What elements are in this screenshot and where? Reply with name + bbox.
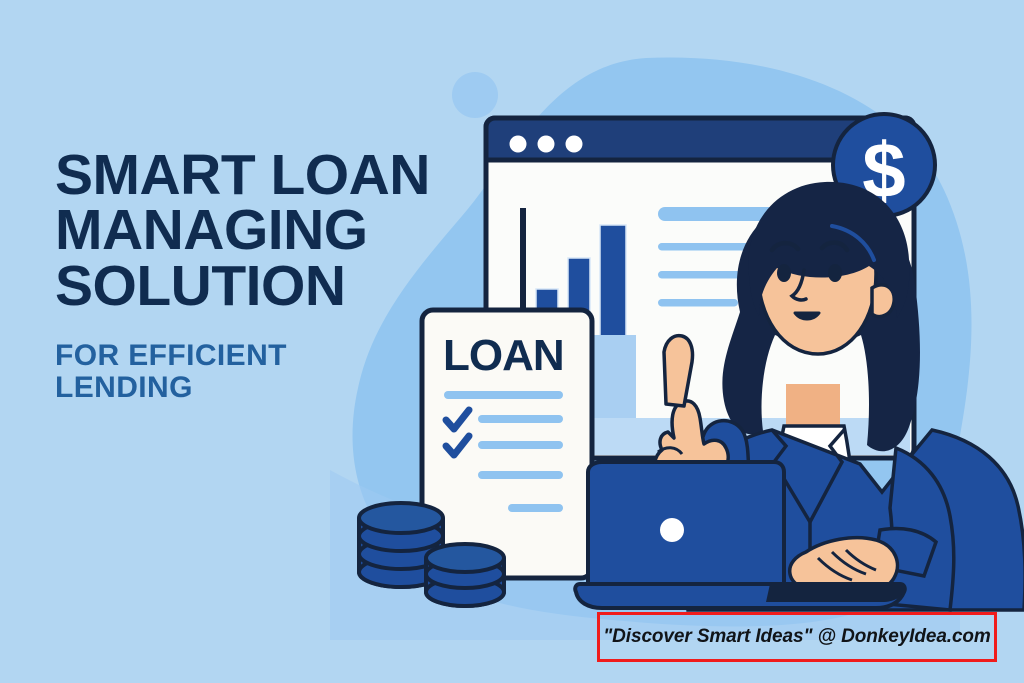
eye-left <box>777 264 791 282</box>
browser-line-body-2 <box>658 271 744 279</box>
headline-block: SMART LOAN MANAGING SOLUTION FOR EFFICIE… <box>55 148 455 405</box>
loan-doc-line-5 <box>508 504 563 512</box>
subhead-line-2: LENDING <box>55 372 455 404</box>
desk-shadow <box>766 584 904 602</box>
eye-right <box>828 264 842 282</box>
footer-banner-text: "Discover Smart Ideas" @ DonkeyIdea.com <box>603 626 990 648</box>
loan-document-title: LOAN <box>443 331 564 380</box>
page-title: SMART LOAN MANAGING SOLUTION <box>55 148 455 314</box>
page-subtitle: FOR EFFICIENT LENDING <box>55 340 455 405</box>
browser-dot-1-icon <box>510 136 527 153</box>
loan-doc-line-1 <box>444 391 563 399</box>
poster-canvas: SMART LOAN MANAGING SOLUTION FOR EFFICIE… <box>0 0 1024 683</box>
browser-line-body-1 <box>658 243 758 251</box>
headline-line-3: SOLUTION <box>55 259 455 314</box>
headline-line-2: MANAGING <box>55 203 455 258</box>
subhead-line-1: FOR EFFICIENT <box>55 340 455 372</box>
headline-line-1: SMART LOAN <box>55 148 455 203</box>
browser-inner-block-1 <box>588 335 636 430</box>
loan-doc-line-4 <box>478 471 563 479</box>
coin-top <box>426 544 504 572</box>
loan-doc-line-2 <box>478 415 563 423</box>
laptop-lid <box>588 462 784 584</box>
mouth <box>795 313 819 319</box>
browser-dot-3-icon <box>566 136 583 153</box>
coin-stack-short <box>426 544 504 606</box>
laptop-logo-icon <box>660 518 684 542</box>
chart-bar-3 <box>600 225 626 346</box>
browser-dot-2-icon <box>538 136 555 153</box>
footer-banner: "Discover Smart Ideas" @ DonkeyIdea.com <box>597 612 997 662</box>
coin-top <box>359 503 443 533</box>
loan-doc-line-3 <box>478 441 563 449</box>
browser-line-body-3 <box>658 299 738 307</box>
